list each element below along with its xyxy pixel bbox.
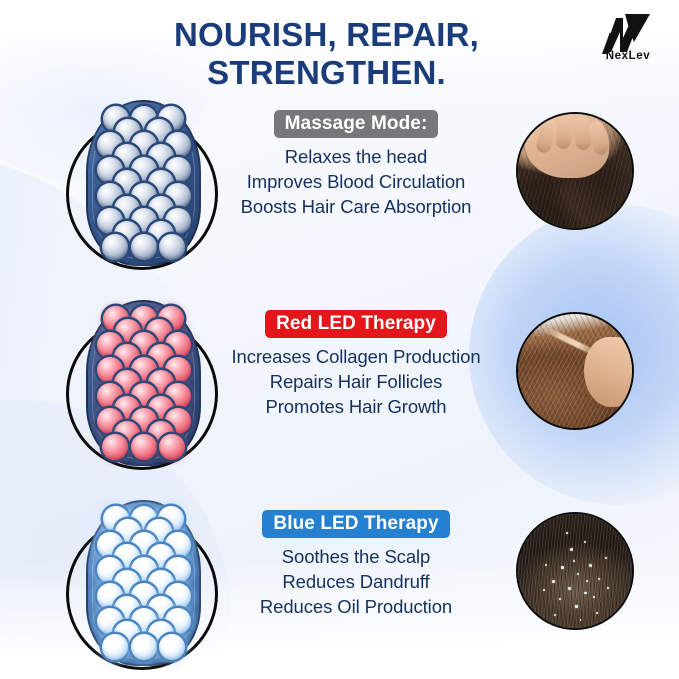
- badge-red-led-therapy: Red LED Therapy: [265, 310, 447, 338]
- product-image-massage: [58, 96, 230, 276]
- bullet-item: Reduces Dandruff: [206, 570, 506, 595]
- feature-row-red-led: Red LED Therapy Increases Collagen Produ…: [0, 296, 679, 486]
- bullet-list-blue-led: Soothes the Scalp Reduces Dandruff Reduc…: [206, 545, 506, 620]
- feature-text-red-led: Red LED Therapy Increases Collagen Produ…: [206, 310, 506, 420]
- product-image-blue-led: [58, 496, 230, 676]
- dandruff-flake: [584, 592, 587, 595]
- feature-text-massage: Massage Mode: Relaxes the head Improves …: [206, 110, 506, 220]
- hand-shape: [584, 337, 634, 408]
- finger-shape: [574, 116, 591, 151]
- bullet-list-massage: Relaxes the head Improves Blood Circulat…: [206, 145, 506, 220]
- dandruff-flake: [552, 580, 555, 583]
- bullet-item: Relaxes the head: [206, 145, 506, 170]
- badge-massage-mode: Massage Mode:: [274, 110, 439, 138]
- headline-line-2: STRENGTHEN.: [60, 54, 593, 92]
- feature-row-massage-mode: Massage Mode: Relaxes the head Improves …: [0, 96, 679, 286]
- product-infographic: NOURISH, REPAIR, STRENGTHEN. NexLev Mass…: [0, 0, 679, 679]
- bullet-item: Reduces Oil Production: [206, 595, 506, 620]
- brush-nub: [159, 634, 185, 660]
- brand-logo: NexLev: [589, 12, 667, 74]
- bullet-item: Increases Collagen Production: [206, 345, 506, 370]
- brush-nub: [131, 434, 157, 460]
- photo-dandruff: [516, 512, 634, 630]
- bullet-item: Boosts Hair Care Absorption: [206, 195, 506, 220]
- brush-nubs: [58, 96, 230, 276]
- dandruff-flake: [561, 566, 564, 569]
- badge-blue-led-therapy: Blue LED Therapy: [262, 510, 449, 538]
- dandruff-flake: [607, 587, 609, 589]
- dandruff-flake: [596, 612, 598, 614]
- brush-nub: [102, 234, 128, 260]
- brush-nub: [102, 434, 128, 460]
- brush-nub: [102, 634, 128, 660]
- brush-nub: [131, 634, 157, 660]
- brush-nub: [159, 234, 185, 260]
- photo-scalp-massage: [516, 112, 634, 230]
- headline-line-1: NOURISH, REPAIR,: [60, 16, 593, 54]
- dandruff-flake: [598, 578, 600, 580]
- bullet-item: Soothes the Scalp: [206, 545, 506, 570]
- brush-nub: [159, 434, 185, 460]
- photo-image: [518, 514, 632, 628]
- bullet-item: Repairs Hair Follicles: [206, 370, 506, 395]
- brand-name: NexLev: [589, 50, 667, 62]
- product-image-red-led: [58, 296, 230, 476]
- brush-nubs: [58, 496, 230, 676]
- photo-hair-parting: [516, 312, 634, 430]
- feature-text-blue-led: Blue LED Therapy Soothes the Scalp Reduc…: [206, 510, 506, 620]
- brush-nubs: [58, 296, 230, 476]
- bullet-item: Improves Blood Circulation: [206, 170, 506, 195]
- brush-nub: [131, 234, 157, 260]
- dandruff-flake: [573, 560, 575, 562]
- feature-row-blue-led: Blue LED Therapy Soothes the Scalp Reduc…: [0, 496, 679, 679]
- bullet-item: Promotes Hair Growth: [206, 395, 506, 420]
- bullet-list-red-led: Increases Collagen Production Repairs Ha…: [206, 345, 506, 420]
- page-title: NOURISH, REPAIR, STRENGTHEN.: [0, 16, 679, 93]
- dandruff-flake: [575, 605, 578, 608]
- dandruff-flake: [589, 564, 592, 567]
